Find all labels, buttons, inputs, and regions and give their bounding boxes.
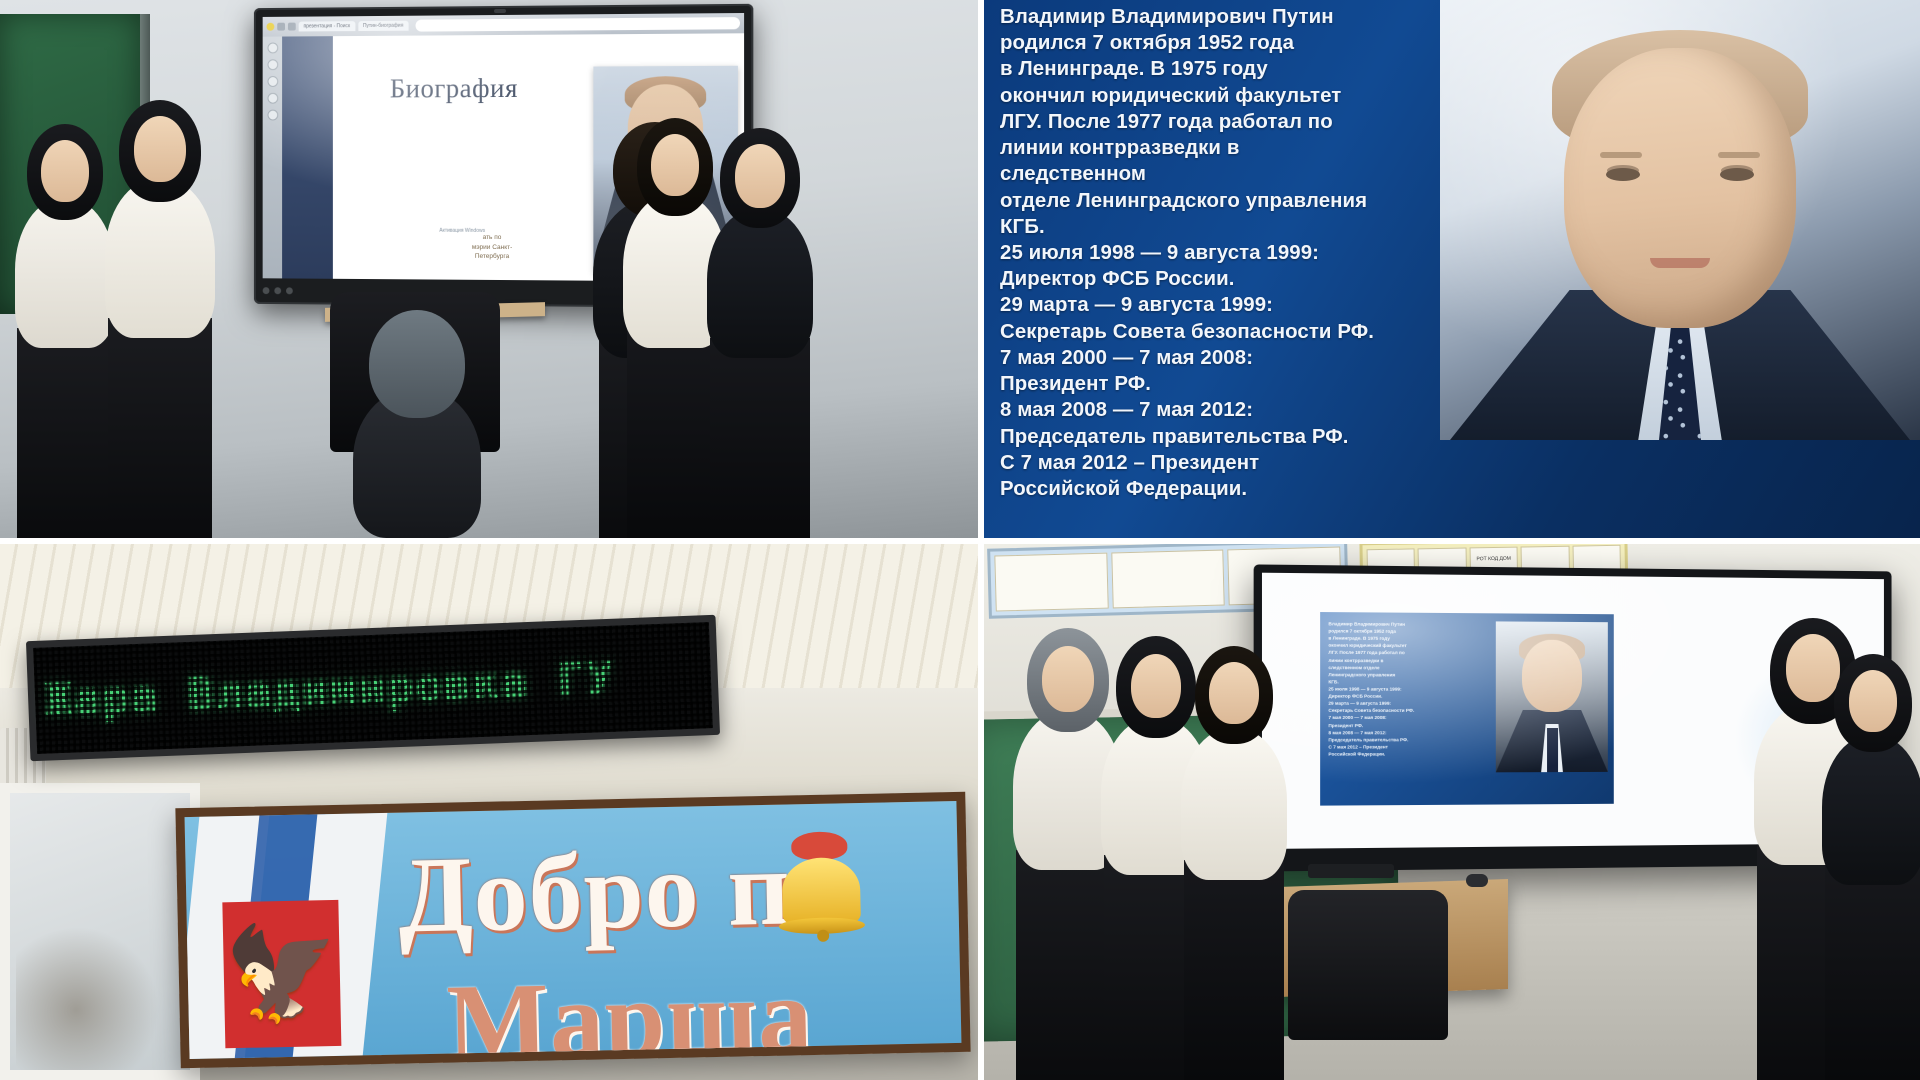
bio-line: 8 мая 2008 — 7 мая 2012: [1000, 397, 1560, 423]
school-bell-icon [777, 831, 865, 943]
bio-line: в Ленинграде. В 1975 году [1000, 56, 1560, 82]
panel-classroom-presentation: презентация - Поиск Путин-биография Биог… [0, 0, 978, 538]
student-seated [352, 268, 482, 538]
student-face [134, 116, 186, 182]
portrait-brow-right [1718, 152, 1760, 158]
russian-coat-of-arms: 🦅 [222, 900, 341, 1048]
back-icon [277, 23, 285, 31]
office-chair [1288, 890, 1448, 1040]
student-right-2 [700, 118, 820, 538]
bio-line: 25 июля 1998 — 9 августа 1999: [1000, 240, 1560, 266]
keyboard [1308, 864, 1394, 878]
browser-logo-icon [267, 23, 275, 31]
dock-icon-pen[interactable] [267, 42, 278, 53]
bio-line: линии контрразведки в [1000, 135, 1560, 161]
student-skirt [710, 338, 810, 538]
student-skirt [17, 328, 113, 538]
welcome-banner: 🦅 Добро по Марша [175, 792, 970, 1068]
bio-line: Директор ФСБ России. [1000, 266, 1560, 292]
student-face [1209, 662, 1259, 724]
student-face [41, 140, 89, 202]
bio-line: Российской Федерации. [1000, 476, 1560, 502]
slide-left-band [282, 36, 333, 279]
portrait-brow-left [1600, 152, 1642, 158]
mouse [1466, 874, 1488, 887]
slide-caption: ать по мэрии Санкт- Петербурга [408, 232, 578, 262]
dock-icon-more[interactable] [267, 110, 278, 121]
student-blouse [1181, 728, 1287, 880]
bio-line: отделе Ленинградского управления [1000, 188, 1560, 214]
dock-icon-shapes[interactable] [267, 76, 278, 87]
student-vest [1822, 735, 1920, 885]
dock-icon-select[interactable] [267, 93, 278, 104]
photo-collage: презентация - Поиск Путин-биография Биог… [0, 0, 1920, 1080]
power-button-icon[interactable] [263, 287, 270, 294]
collage-seam-horizontal [0, 538, 1920, 544]
dock-icon-eraser[interactable] [267, 59, 278, 70]
double-headed-eagle-icon: 🦅 [224, 927, 340, 1021]
bell-bow [791, 831, 848, 860]
slide-caption-line1: ать по [483, 234, 502, 241]
student-group-left-3 [1174, 640, 1294, 1080]
slide-caption-line2: мэрии Санкт- [472, 243, 512, 250]
windows-activation-watermark: Активация Windows [439, 228, 485, 234]
address-bar[interactable] [415, 17, 740, 32]
bio-line: ЛГУ. После 1977 года работал по [1000, 109, 1560, 135]
portrait-eye-right [1720, 168, 1754, 181]
volume-button-icon[interactable] [274, 287, 281, 294]
portrait-face [1564, 48, 1796, 328]
bio-line: Секретарь Совета безопасности РФ. [1000, 319, 1560, 345]
slide-title: Биография [390, 73, 518, 104]
student-face [735, 144, 785, 208]
student-blouse [105, 178, 215, 338]
student-face [1042, 646, 1094, 712]
bio-line: Владимир Владимирович Путин [1000, 4, 1560, 30]
panel-classroom-wide: РОТ КОД ДОМ Владимир Владимирович Путин … [978, 538, 1920, 1080]
bell-body [782, 857, 861, 925]
poster-card [1111, 550, 1225, 609]
student-vest [707, 208, 813, 358]
bio-line: родился 7 октября 1952 года [1000, 30, 1560, 56]
bio-line: 29 марта — 9 августа 1999: [1000, 292, 1560, 318]
student-face [651, 134, 699, 196]
seated-hijab [369, 310, 465, 418]
portrait-eye-left [1606, 168, 1640, 181]
bio-line: С 7 мая 2012 – Президент [1000, 450, 1560, 476]
browser-tab-1[interactable]: презентация - Поиск [299, 21, 355, 31]
panel-biography-slide: Владимир Владимирович Путин родился 7 ок… [978, 0, 1920, 538]
bio-line: окончил юридический факультет [1000, 83, 1560, 109]
app-dock [263, 37, 282, 279]
tree-outside [16, 920, 166, 1070]
corridor-window [0, 783, 200, 1080]
bio-line: КГБ. [1000, 214, 1560, 240]
banner-line-2: Марша [446, 954, 815, 1068]
panel-led-and-banner: Жара Владимировка ГУ 🦅 Добро по Марша [0, 538, 978, 1080]
slide-caption-line3: Петербурга [475, 253, 509, 260]
forward-icon [288, 23, 296, 31]
menu-button-icon[interactable] [286, 287, 293, 294]
biography-text-block: Владимир Владимирович Путин родился 7 ок… [1000, 4, 1560, 502]
student-face [1849, 670, 1897, 732]
bio-line: 7 мая 2000 — 7 мая 2008: [1000, 345, 1560, 371]
student-left-2 [100, 98, 220, 538]
bio-line: Президент РФ. [1000, 371, 1560, 397]
bell-clapper [817, 930, 829, 942]
bio-line: следственном [1000, 161, 1560, 187]
poster-card [994, 553, 1108, 612]
camera-icon [494, 9, 506, 13]
portrait-mouth [1650, 258, 1710, 268]
student-skirt [1825, 865, 1920, 1080]
student-skirt [108, 318, 212, 538]
student-group-right-2 [1818, 650, 1920, 1080]
browser-tab-2[interactable]: Путин-биография [358, 21, 408, 31]
bio-line: Председатель правительства РФ. [1000, 424, 1560, 450]
